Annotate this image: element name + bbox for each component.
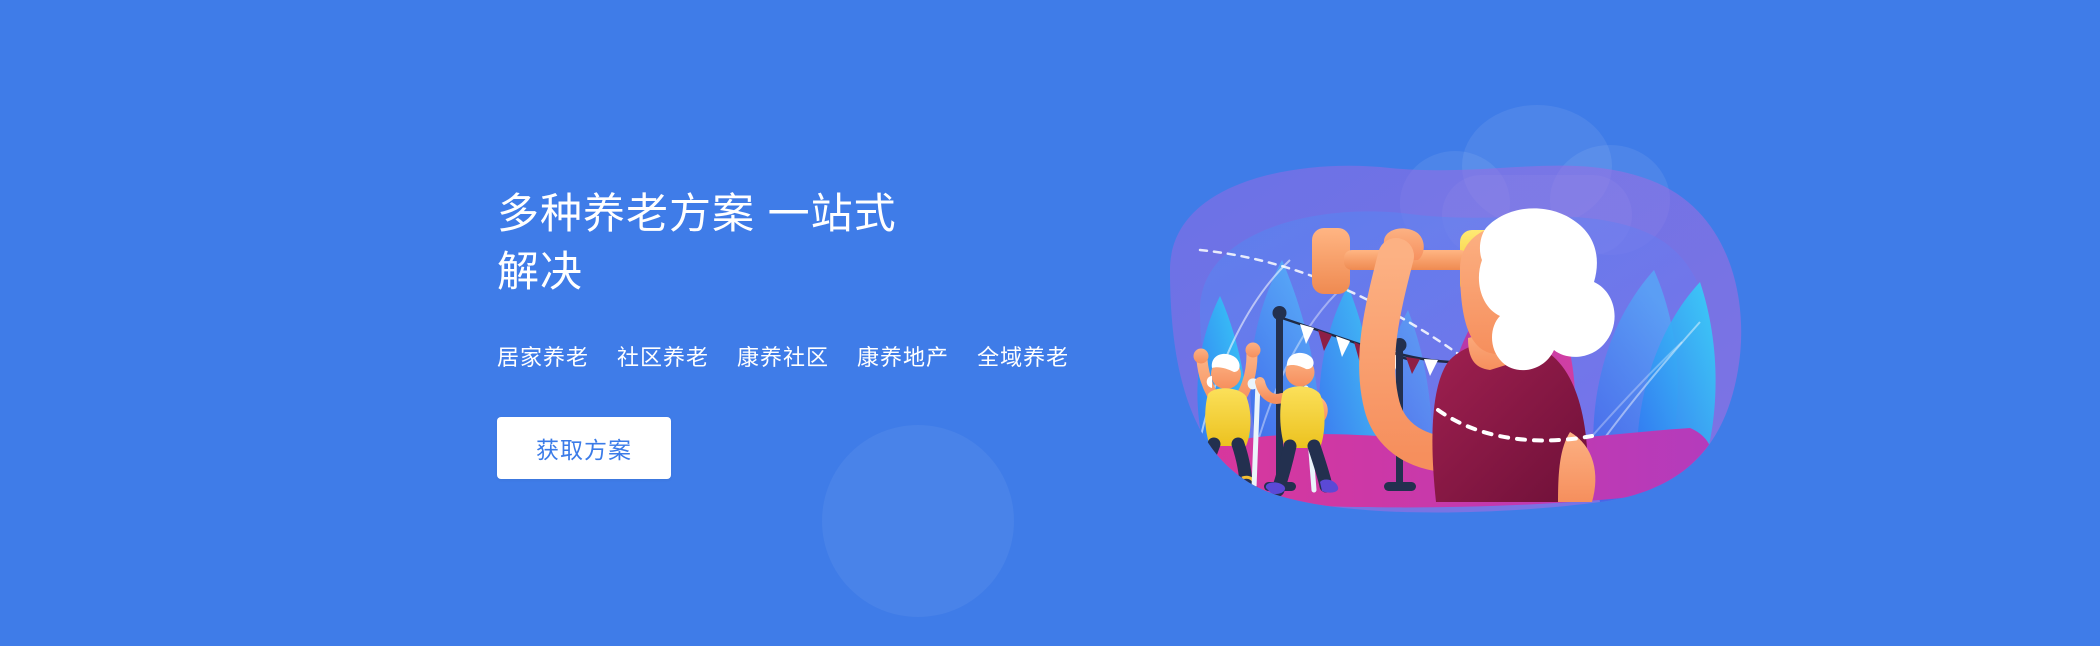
elderly-fitness-illustration xyxy=(1130,110,1770,530)
tag-item-regional-care[interactable]: 全域养老 xyxy=(977,343,1069,373)
tag-item-wellness-community[interactable]: 康养社区 xyxy=(737,343,829,373)
tag-list: 居家养老 社区养老 康养社区 康养地产 全域养老 xyxy=(497,343,1137,373)
tag-item-wellness-realestate[interactable]: 康养地产 xyxy=(857,343,949,373)
page-title: 多种养老方案 一站式解决 xyxy=(497,185,897,301)
get-plan-button[interactable]: 获取方案 xyxy=(497,417,671,479)
hero-banner: 多种养老方案 一站式解决 居家养老 社区养老 康养社区 康养地产 全域养老 获取… xyxy=(0,0,2100,646)
tag-item-home-care[interactable]: 居家养老 xyxy=(497,343,589,373)
hero-content: 多种养老方案 一站式解决 居家养老 社区养老 康养社区 康养地产 全域养老 获取… xyxy=(497,185,1137,479)
tag-item-community-care[interactable]: 社区养老 xyxy=(617,343,709,373)
